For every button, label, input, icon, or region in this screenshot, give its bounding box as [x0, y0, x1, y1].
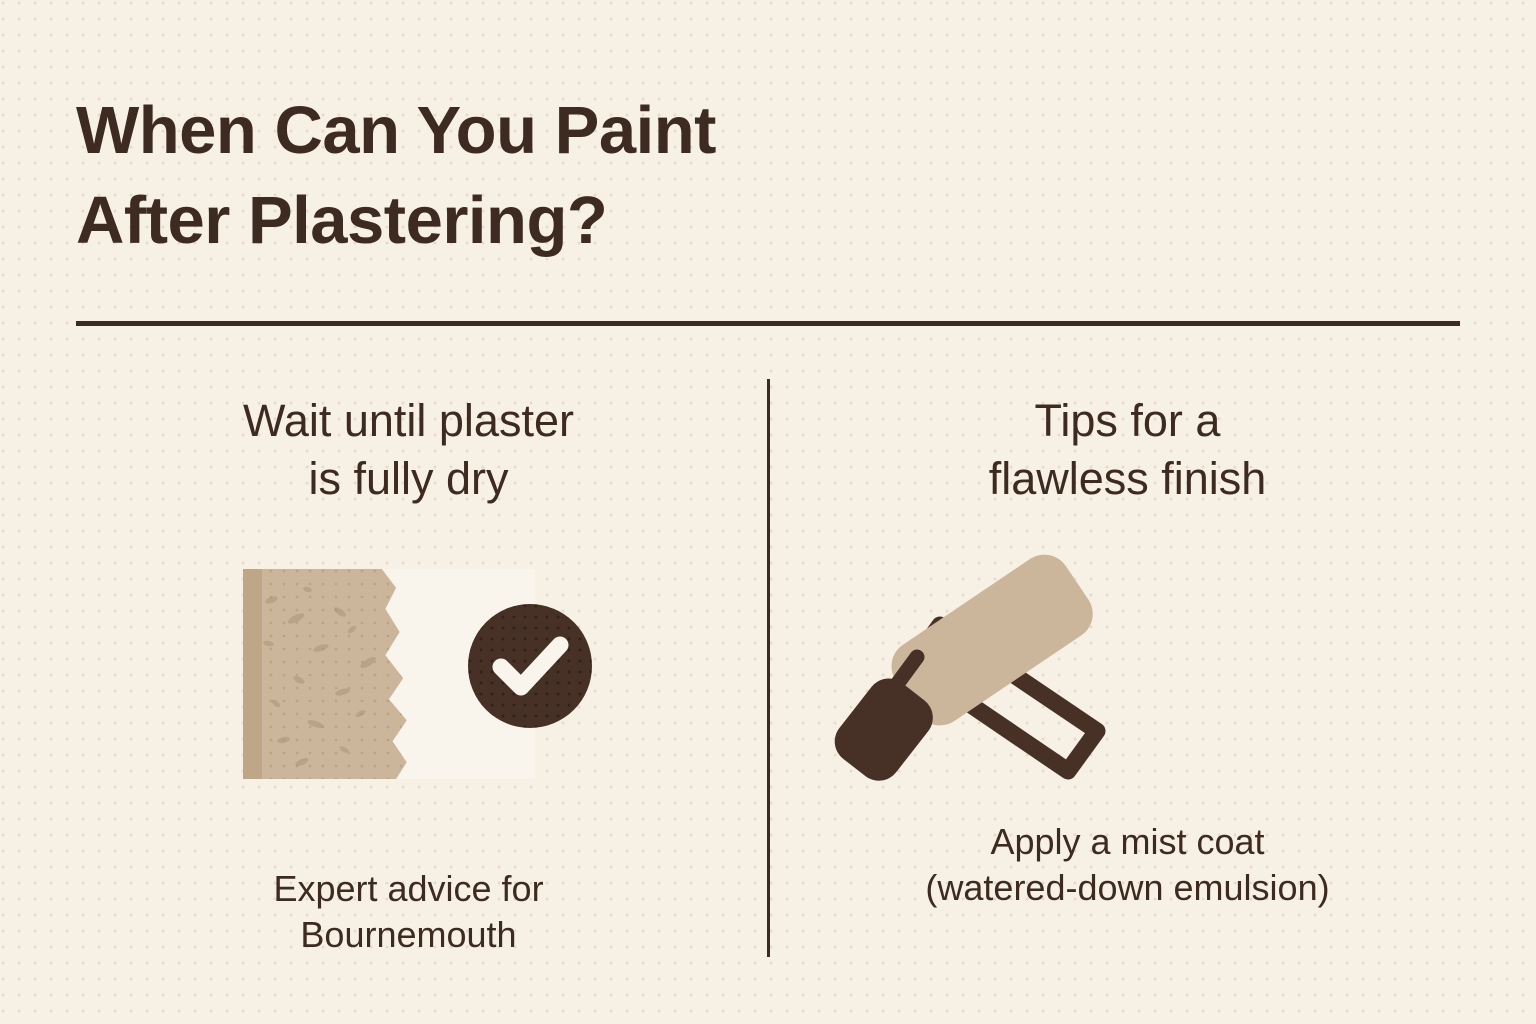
infographic-canvas: When Can You Paint After Plastering? Wai…	[0, 0, 1536, 1024]
page-title: When Can You Paint After Plastering?	[76, 86, 1076, 266]
check-circle-icon	[468, 604, 592, 728]
right-column-heading: Tips for a flawless finish	[795, 392, 1460, 507]
paint-roller-icon	[825, 539, 1125, 799]
checkmark-glyph	[468, 604, 592, 728]
right-column-caption: Apply a mist coat (watered-down emulsion…	[795, 819, 1460, 910]
left-column-caption: Expert advice for Bournemouth	[76, 866, 741, 957]
column-left: Wait until plaster is fully dry	[76, 379, 741, 979]
plaster-edge-strip	[243, 569, 262, 779]
left-column-heading: Wait until plaster is fully dry	[76, 392, 741, 507]
column-right: Tips for a flawless finish Ap	[795, 379, 1460, 979]
header-divider-rule	[76, 321, 1460, 326]
column-divider-rule	[767, 379, 770, 957]
